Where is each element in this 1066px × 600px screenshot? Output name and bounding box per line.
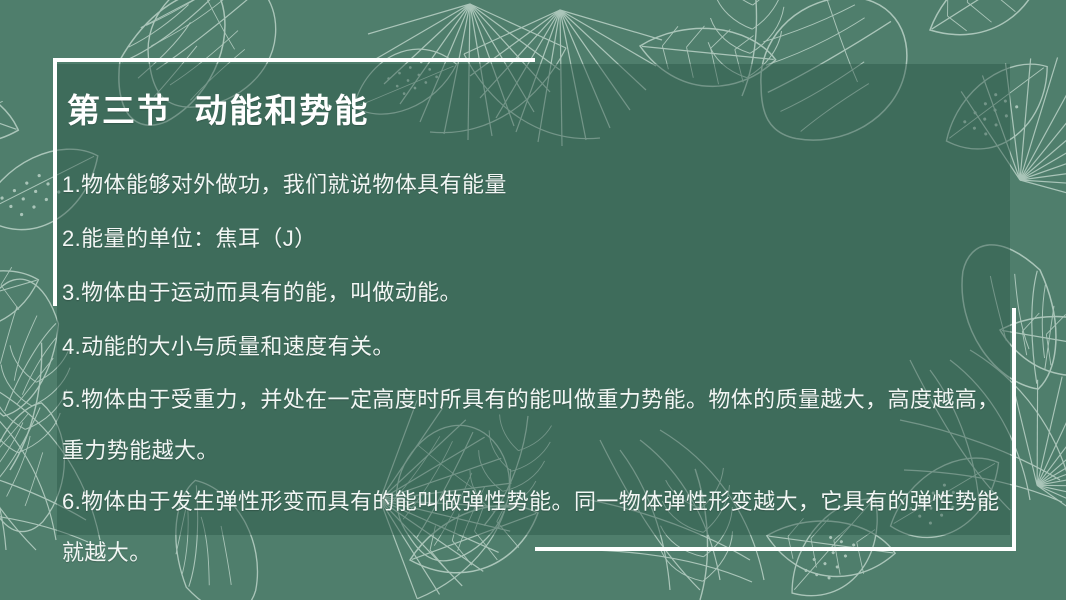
body-line-4: 4.动能的大小与质量和速度有关。 [62,320,1002,374]
body-line-1: 1.物体能够对外做功，我们就说物体具有能量 [62,158,1002,212]
body-line-3: 3.物体由于运动而具有的能，叫做动能。 [62,266,1002,320]
body-line-6: 6.物体由于发生弹性形变而具有的能叫做弹性势能。同一物体弹性形变越大，它具有的弹… [62,476,1002,578]
slide-content: 第三节 动能和势能 1.物体能够对外做功，我们就说物体具有能量 2.能量的单位：… [57,64,1047,564]
frame-border-top [53,58,535,62]
slide-body: 1.物体能够对外做功，我们就说物体具有能量 2.能量的单位：焦耳（J） 3.物体… [62,158,1002,578]
slide-canvas: 第三节 动能和势能 1.物体能够对外做功，我们就说物体具有能量 2.能量的单位：… [0,0,1066,600]
body-line-5: 5.物体由于受重力，并处在一定高度时所具有的能叫做重力势能。物体的质量越大，高度… [62,374,1002,476]
body-line-2: 2.能量的单位：焦耳（J） [62,212,1002,266]
slide-title: 第三节 动能和势能 [67,84,369,132]
